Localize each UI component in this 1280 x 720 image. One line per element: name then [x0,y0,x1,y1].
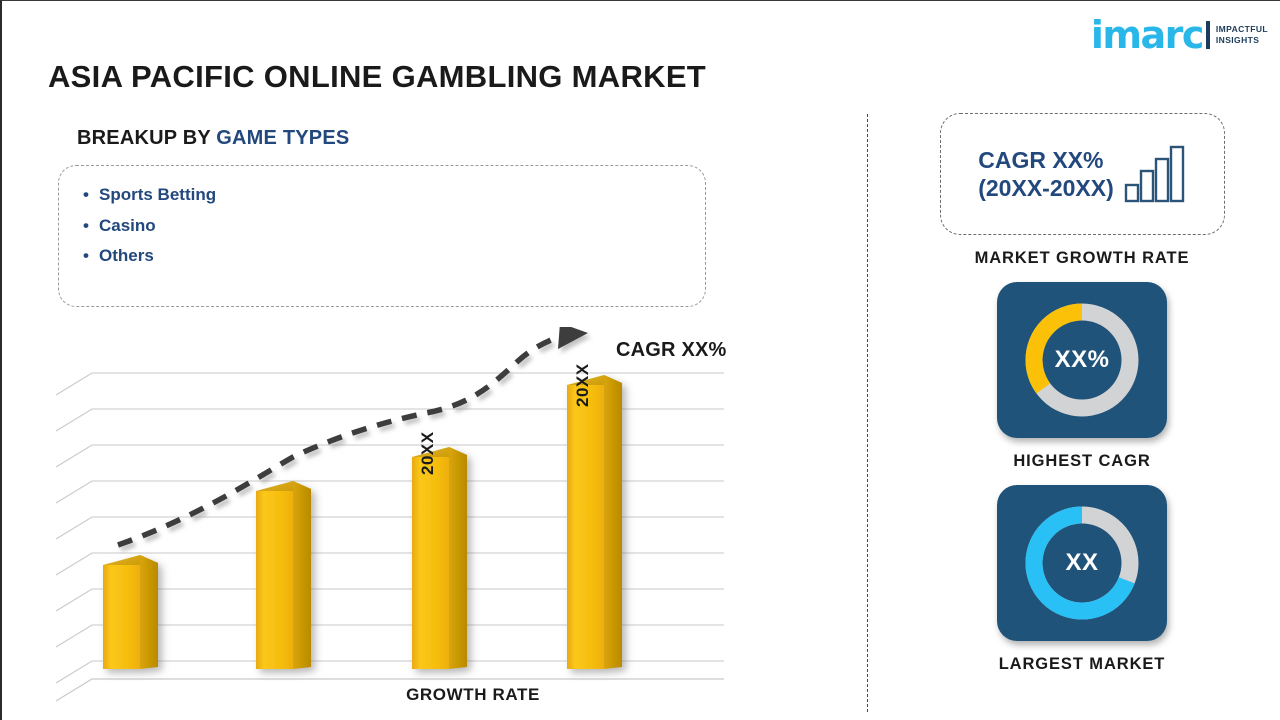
market-growth-rate-card: CAGR XX% (20XX-20XX) [940,113,1225,235]
imarc-logo: imarc IMPACTFUL INSIGHTS [1091,15,1268,55]
logo-tagline: IMPACTFUL INSIGHTS [1216,24,1268,47]
largest-market-caption: LARGEST MARKET [907,655,1257,674]
largest-market-tile: XX [997,485,1167,641]
breakup-heading-prefix: BREAKUP BY [77,127,216,149]
list-item: Sports Betting [83,180,681,211]
logo-divider-icon [1206,21,1210,49]
breakup-box: Sports Betting Casino Others [58,165,706,307]
logo-tagline-line2: INSIGHTS [1216,35,1268,46]
slide-canvas: imarc IMPACTFUL INSIGHTS ASIA PACIFIC ON… [0,0,1280,720]
list-item: Casino [83,211,681,242]
metrics-panel: CAGR XX% (20XX-20XX) MARKET GROWTH RATE … [907,113,1257,674]
cagr-line-2: (20XX-20XX) [978,174,1114,202]
market-growth-rate-text: CAGR XX% (20XX-20XX) [978,146,1114,202]
bar-label-4: 20XX [573,363,593,407]
chart-axis-label: GROWTH RATE [348,685,598,705]
bar-column-3 [412,447,467,669]
market-growth-rate-caption: MARKET GROWTH RATE [907,249,1257,268]
page-title: ASIA PACIFIC ONLINE GAMBLING MARKET [48,59,706,95]
bar-column-2 [256,481,311,669]
logo-wordmark: imarc [1091,16,1203,54]
chart-svg [48,327,788,717]
highest-cagr-tile: XX% [997,282,1167,438]
highest-cagr-value: XX% [997,346,1167,374]
bar-column-4 [567,375,622,669]
panel-divider [867,114,868,712]
chart-cagr-callout: CAGR XX% [616,339,727,362]
ascending-bars-icon [1124,145,1186,203]
breakup-heading: BREAKUP BY GAME TYPES [77,127,349,150]
list-item: Others [83,241,681,272]
breakup-heading-accent: GAME TYPES [216,127,349,149]
growth-bar-chart: 20XX 20XX CAGR XX% GROWTH RATE [48,327,788,717]
bar-label-3: 20XX [418,431,438,475]
largest-market-value: XX [997,549,1167,577]
highest-cagr-caption: HIGHEST CAGR [907,452,1257,471]
trend-arrow-icon [118,327,588,545]
cagr-line-1: CAGR XX% [978,146,1114,174]
breakup-list: Sports Betting Casino Others [83,180,681,272]
logo-tagline-line1: IMPACTFUL [1216,24,1268,35]
bar-column-1 [103,555,158,669]
